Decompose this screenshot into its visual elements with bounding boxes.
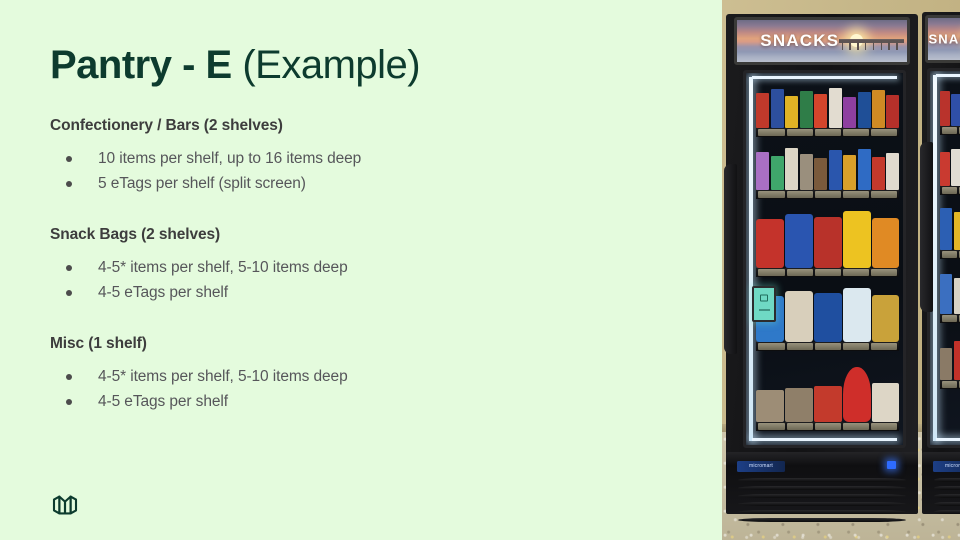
etag-label [843,269,869,276]
etag-rail [756,342,899,351]
etag-label [871,191,897,198]
etag-label [758,269,784,276]
led-strip [936,74,960,77]
section-snack-bags: Snack Bags (2 shelves) 4-5* items per sh… [50,226,722,305]
section-bullet-list: 4-5* items per shelf, 5-10 items deep 4-… [50,364,722,414]
brand-badge: micromart [933,461,960,472]
led-strip [933,75,937,441]
vending-machine-secondary: SNACKS [922,12,960,514]
shelf-row-misc [756,361,899,431]
shelf-row-snackbags-1 [756,211,899,277]
etag-label [787,191,813,198]
machine-base: micromart [922,452,960,514]
list-item: 4-5 eTags per shelf [50,389,722,414]
etag-label [787,423,813,430]
section-confectionery-bars: Confectionery / Bars (2 shelves) 10 item… [50,117,722,196]
door-handle[interactable] [920,142,933,312]
etag-rail [756,128,899,137]
section-heading: Confectionery / Bars (2 shelves) [50,117,722,135]
section-bullet-list: 10 items per shelf, up to 16 items deep … [50,146,722,196]
list-item-label: 5 eTags per shelf (split screen) [98,175,306,192]
shelf-row [940,205,960,259]
etag-label [843,191,869,198]
led-strip [936,438,960,441]
etag-label [758,191,784,198]
shelf-row [940,145,960,195]
page-title-bold: Pantry - E [50,43,232,87]
list-item-label: 10 items per shelf, up to 16 items deep [98,150,361,167]
power-led-icon [887,461,896,469]
section-heading: Misc (1 shelf) [50,335,722,353]
terminal-logo-icon [760,295,768,302]
etag-label [758,423,784,430]
vending-machine-photo: SNACKS [722,0,960,540]
list-item: 4-5 eTags per shelf [50,280,722,305]
list-item-label: 4-5* items per shelf, 5-10 items deep [98,259,348,276]
terminal-prompt-text [759,309,770,311]
machine-header-sign: SNACKS [925,15,960,63]
bullet-dot-icon [66,374,72,380]
shelf-row [940,333,960,389]
shelf-row [940,87,960,135]
list-item: 10 items per shelf, up to 16 items deep [50,146,722,171]
etag-label [758,129,784,136]
etag-label [787,129,813,136]
bullet-dot-icon [66,399,72,405]
machine-sign-label: SNACKS [928,32,960,47]
section-misc: Misc (1 shelf) 4-5* items per shelf, 5-1… [50,335,722,414]
content-panel: Pantry - E (Example) Confectionery / Bar… [0,0,722,540]
brand-badge: micromart [737,461,785,472]
led-strip [749,77,753,441]
etag-label [815,343,841,350]
machine-base: micromart [726,452,918,514]
bullet-dot-icon [66,156,72,162]
etag-label [787,269,813,276]
vent-grille [934,478,960,507]
etag-label [787,343,813,350]
page-title-light: (Example) [242,43,420,87]
etag-label [843,343,869,350]
etag-label [871,423,897,430]
etag-label [843,129,869,136]
payment-terminal-screen[interactable] [752,286,776,322]
machine-sign-label: SNACKS [737,31,908,51]
list-item: 4-5* items per shelf, 5-10 items deep [50,364,722,389]
bullet-dot-icon [66,265,72,271]
led-strip [752,438,897,441]
slide: Pantry - E (Example) Confectionery / Bar… [0,0,960,540]
list-item: 5 eTags per shelf (split screen) [50,171,722,196]
etag-rail [756,190,899,199]
vending-machine-primary: SNACKS [726,14,918,514]
shelf-row [940,269,960,323]
machine-glass-door[interactable] [743,70,906,448]
vent-grille [738,478,906,507]
section-bullet-list: 4-5* items per shelf, 5-10 items deep 4-… [50,255,722,305]
shelf-row-confectionery-1 [756,87,899,137]
etag-label [871,269,897,276]
shelf-row-snackbags-2 [756,287,899,351]
list-item-label: 4-5 eTags per shelf [98,393,228,410]
etag-label [871,129,897,136]
etag-label [815,129,841,136]
door-handle[interactable] [724,164,737,354]
list-item-label: 4-5 eTags per shelf [98,284,228,301]
machine-header-sign: SNACKS [734,17,911,65]
list-item-label: 4-5* items per shelf, 5-10 items deep [98,368,348,385]
etag-label [815,423,841,430]
page-title: Pantry - E (Example) [50,44,722,86]
etag-label [815,191,841,198]
etag-label [815,269,841,276]
etag-rail [756,422,899,431]
bullet-dot-icon [66,181,72,187]
bullet-dot-icon [66,290,72,296]
shelf-row-confectionery-2 [756,147,899,199]
list-item: 4-5* items per shelf, 5-10 items deep [50,255,722,280]
etag-rail [756,268,899,277]
section-heading: Snack Bags (2 shelves) [50,226,722,244]
etag-label [758,343,784,350]
brand-logo-icon [51,491,79,519]
etag-label [871,343,897,350]
etag-label [843,423,869,430]
